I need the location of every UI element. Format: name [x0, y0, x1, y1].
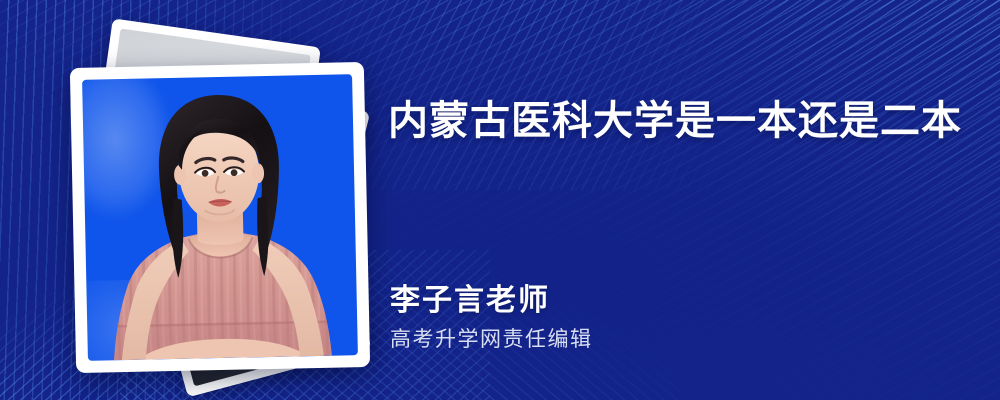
banner-text-block: 内蒙古医科大学是一本还是二本 李子言老师 高考升学网责任编辑 — [388, 0, 958, 400]
author-name: 李子言老师 — [390, 275, 550, 319]
author-photo-card — [70, 62, 370, 373]
author-photo — [82, 74, 358, 361]
article-header-banner: 内蒙古医科大学是一本还是二本 李子言老师 高考升学网责任编辑 — [0, 0, 1000, 400]
portrait-illustration — [82, 74, 358, 361]
page-title: 内蒙古医科大学是一本还是二本 — [388, 98, 948, 144]
photo-card-stack — [40, 30, 340, 370]
author-role: 高考升学网责任编辑 — [390, 323, 593, 353]
